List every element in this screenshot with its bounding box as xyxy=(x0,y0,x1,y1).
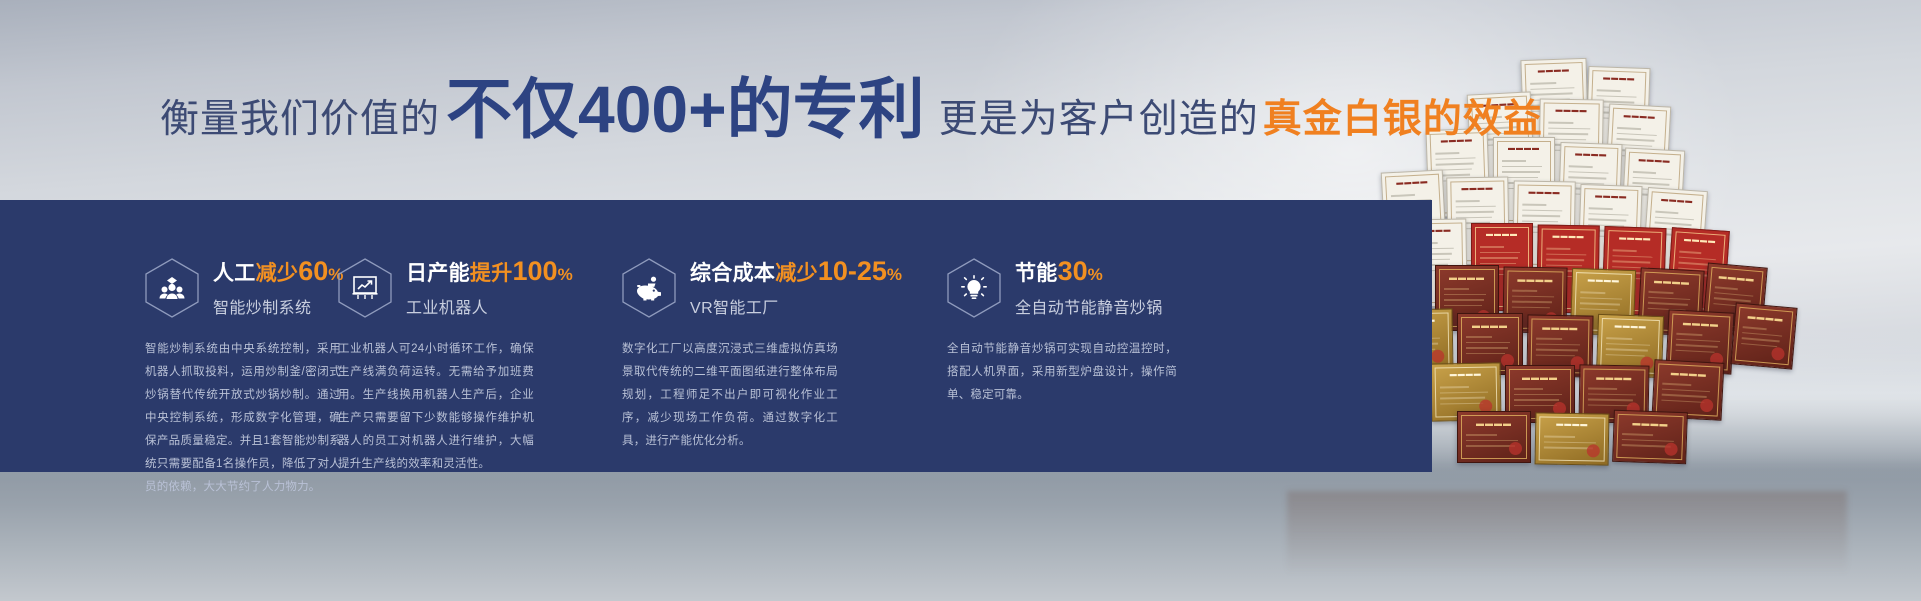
feature-item: 人工减少60% 智能炒制系统 智能炒制系统由中央系统控制，采用机器人抓取投料，运… xyxy=(0,200,312,472)
feature-item: 日产能提升100% 工业机器人 工业机器人可24小时循环工作，确保生产线满负荷运… xyxy=(312,200,602,472)
headline-strong: 不仅400+的专利 xyxy=(440,78,931,141)
certificate-item: ▬▬▬▬ xyxy=(1730,302,1797,369)
feature-title-prefix: 综合成本 xyxy=(690,262,775,285)
feature-title: 综合成本减少10-25% xyxy=(690,258,902,285)
feature-title-prefix: 节能 xyxy=(1015,262,1058,285)
feature-header: 人工减少60% 智能炒制系统 xyxy=(145,256,288,318)
headline-accent: 真金白银的效益 xyxy=(1259,88,1543,144)
feature-header: 综合成本减少10-25% VR智能工厂 xyxy=(622,256,878,318)
feature-description: 数字化工厂以高度沉浸式三维虚拟仿真场景取代传统的二维平面图纸进行整体布局规划，工… xyxy=(622,338,838,453)
feature-list: 人工减少60% 智能炒制系统 智能炒制系统由中央系统控制，采用机器人抓取投料，运… xyxy=(0,200,1432,472)
feature-panel: 人工减少60% 智能炒制系统 智能炒制系统由中央系统控制，采用机器人抓取投料，运… xyxy=(0,200,1432,472)
feature-title-percent: % xyxy=(1088,265,1103,284)
feature-description: 全自动节能静音炒锅可实现自动控温控时，搭配人机界面，采用新型炉盘设计，操作简单、… xyxy=(947,338,1177,407)
feature-title: 节能30% xyxy=(1015,258,1163,285)
headline-lead: 衡量我们价值的 xyxy=(160,88,440,144)
feature-title-percent: % xyxy=(558,265,573,284)
feature-title-number: 100 xyxy=(513,256,558,286)
feature-title: 日产能提升100% xyxy=(406,258,573,285)
feature-title-prefix: 人工 xyxy=(213,262,256,285)
feature-subtitle: VR智能工厂 xyxy=(690,294,902,318)
lightbulb-icon xyxy=(947,258,1001,318)
certificate-item: ▬▬▬▬ xyxy=(1612,410,1688,465)
feature-header: 节能30% 全自动节能静音炒锅 xyxy=(947,256,1208,318)
certificate-item: ▬▬▬▬ xyxy=(1535,412,1610,465)
chart-board-icon xyxy=(338,258,392,318)
certificate-item: ▬▬▬▬ xyxy=(1457,411,1531,463)
feature-icon-badge xyxy=(947,258,1001,318)
feature-subtitle: 全自动节能静音炒锅 xyxy=(1015,294,1163,318)
feature-title-highlight: 提升 xyxy=(470,262,513,285)
feature-title-percent: % xyxy=(887,265,902,284)
feature-title-highlight: 减少 xyxy=(775,262,818,285)
feature-icon-badge xyxy=(622,258,676,318)
feature-text-group: 节能30% 全自动节能静音炒锅 xyxy=(1015,256,1163,318)
page-title: 衡量我们价值的 不仅400+的专利 更是为客户创造的 真金白银的效益 xyxy=(160,78,1543,144)
feature-description: 工业机器人可24小时循环工作，确保生产线满负荷运转。无需给予加班费用。生产线换用… xyxy=(338,338,534,476)
feature-title-prefix: 日产能 xyxy=(406,262,470,285)
piggy-bank-icon xyxy=(622,258,676,318)
feature-item: 综合成本减少10-25% VR智能工厂 数字化工厂以高度沉浸式三维虚拟仿真场景取… xyxy=(602,200,902,472)
people-group-icon xyxy=(145,258,199,318)
feature-text-group: 日产能提升100% 工业机器人 xyxy=(406,256,573,318)
feature-text-group: 综合成本减少10-25% VR智能工厂 xyxy=(690,256,902,318)
headline-mid: 更是为客户创造的 xyxy=(931,88,1259,144)
feature-title-number: 30 xyxy=(1058,256,1088,286)
feature-icon-badge xyxy=(145,258,199,318)
feature-header: 日产能提升100% 工业机器人 xyxy=(338,256,578,318)
banner-stage: ▬▬▬▬▬▬▬▬▬▬▬▬▬▬▬▬▬▬▬▬▬▬▬▬▬▬▬▬▬▬▬▬▬▬▬▬▬▬▬▬… xyxy=(0,0,1921,601)
feature-title-number: 10-25 xyxy=(818,256,887,286)
feature-icon-badge xyxy=(338,258,392,318)
feature-item: 节能30% 全自动节能静音炒锅 全自动节能静音炒锅可实现自动控温控时，搭配人机界… xyxy=(902,200,1232,472)
feature-title-highlight: 减少 xyxy=(256,262,299,285)
feature-subtitle: 工业机器人 xyxy=(406,294,573,318)
